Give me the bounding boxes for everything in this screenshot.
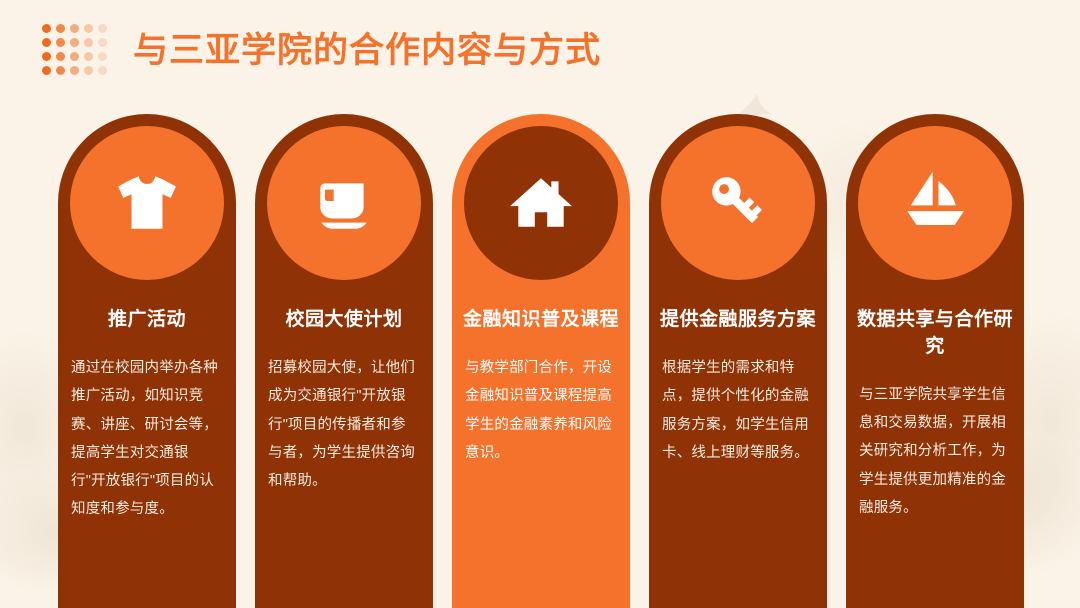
card-body: 通过在校园内举办各种推广活动，如知识竞赛、讲座、研讨会等，提高学生对交通银行"开… [71,354,223,524]
card-title: 数据共享与合作研究 [855,307,1015,361]
icon-circle [70,126,224,280]
card-title: 提供金融服务方案 [658,307,818,334]
card-list: 推广活动 通过在校园内举办各种推广活动，如知识竞赛、讲座、研讨会等，提高学生对交… [58,114,1024,608]
page-title: 与三亚学院的合作内容与方式 [133,33,601,68]
card-financial-service-plan[interactable]: 提供金融服务方案 根据学生的需求和特点，提供个性化的金融服务方案，如学生信用卡、… [649,114,827,608]
card-title: 推广活动 [67,307,227,334]
icon-circle [661,126,815,280]
card-body: 根据学生的需求和特点，提供个性化的金融服务方案，如学生信用卡、线上理财等服务。 [662,354,814,467]
key-icon [703,168,773,238]
card-body: 招募校园大使，让他们成为交通银行"开放银行"项目的传播者和参与者，为学生提供咨询… [268,354,420,495]
card-title: 校园大使计划 [264,307,424,334]
card-financial-literacy-course[interactable]: 金融知识普及课程 与教学部门合作，开设金融知识普及课程提高学生的金融素养和风险意… [452,114,630,608]
card-title: 金融知识普及课程 [461,307,621,334]
coffee-cup-icon [311,170,377,236]
card-promotion-activities[interactable]: 推广活动 通过在校园内举办各种推广活动，如知识竞赛、讲座、研讨会等，提高学生对交… [58,114,236,608]
card-body: 与教学部门合作，开设金融知识普及课程提高学生的金融素养和风险意识。 [465,354,617,467]
page-header: 与三亚学院的合作内容与方式 [0,0,1080,100]
card-body: 与三亚学院共享学生信息和交易数据，开展相关研究和分析工作，为学生提供更加精准的金… [859,381,1011,522]
icon-circle [464,126,618,280]
icon-circle [858,126,1012,280]
house-icon [508,170,574,236]
card-campus-ambassador[interactable]: 校园大使计划 招募校园大使，让他们成为交通银行"开放银行"项目的传播者和参与者，… [255,114,433,608]
tshirt-icon [114,170,180,236]
card-data-sharing-research[interactable]: 数据共享与合作研究 与三亚学院共享学生信息和交易数据，开展相关研究和分析工作，为… [846,114,1024,608]
icon-circle [267,126,421,280]
sailboat-icon [898,166,972,240]
dot-grid-decoration-icon [42,24,109,77]
